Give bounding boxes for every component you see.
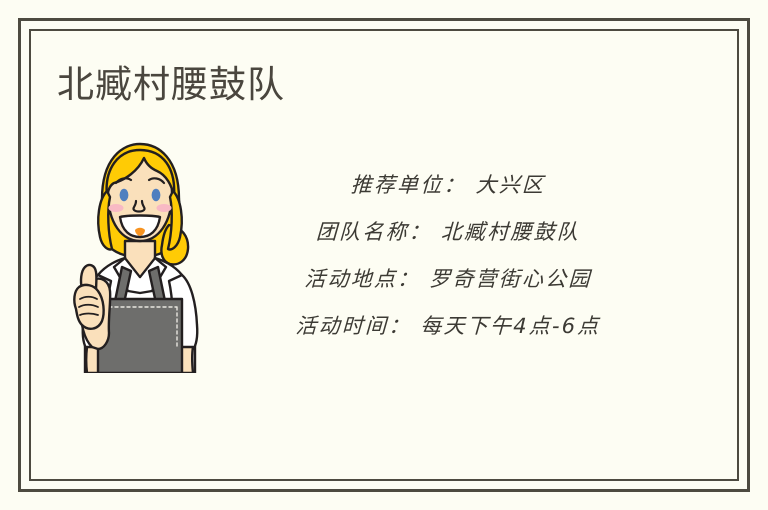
info-line-time: 活动时间： 每天下午4点-6点 <box>227 303 669 350</box>
blush-left <box>109 204 124 212</box>
blush-right <box>157 204 172 212</box>
info-block: 推荐单位： 大兴区 团队名称： 北臧村腰鼓队 活动地点： 罗奇营街心公园 活动时… <box>228 162 668 350</box>
info-line-recommender: 推荐单位： 大兴区 <box>227 162 669 209</box>
cartoon-woman-pointing-up-illustration <box>62 141 218 373</box>
info-line-team-name: 团队名称： 北臧村腰鼓队 <box>227 209 669 256</box>
page-title: 北臧村腰鼓队 <box>57 62 285 108</box>
eye-right <box>152 189 161 201</box>
poster-canvas: 北臧村腰鼓队 <box>0 0 768 510</box>
eye-left <box>120 189 129 201</box>
cartoon-woman-svg <box>62 141 218 373</box>
info-line-location: 活动地点： 罗奇营街心公园 <box>227 256 669 303</box>
